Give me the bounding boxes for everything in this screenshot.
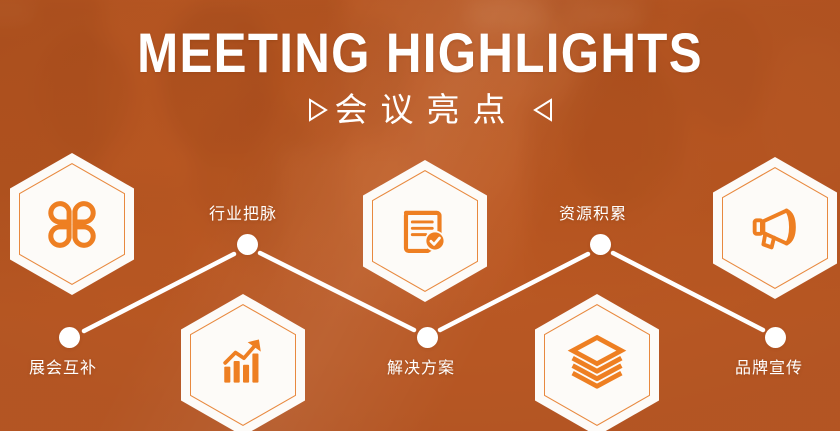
hexagon-node-2[interactable] — [181, 294, 305, 431]
banner-title-block: MEETING HIGHLIGHTS 会议亮点 — [0, 22, 840, 130]
hexagon-node-5[interactable] — [713, 157, 837, 299]
document-check-icon — [396, 202, 454, 260]
node-dot-4 — [590, 234, 611, 255]
node-label-1: 展会互补 — [29, 354, 97, 378]
node-label-2: 行业把脉 — [209, 200, 277, 224]
megaphone-icon — [744, 197, 806, 259]
node-label-3: 解决方案 — [387, 354, 455, 378]
node-dot-1 — [59, 327, 80, 348]
title-chinese: 会议亮点 — [322, 90, 519, 130]
hexagon-node-1[interactable] — [10, 153, 134, 295]
node-label-4: 资源积累 — [559, 200, 627, 224]
hexagon-node-4[interactable] — [535, 294, 659, 431]
layers-icon — [567, 330, 627, 390]
node-label-5: 品牌宣传 — [735, 354, 803, 378]
growth-chart-icon — [213, 331, 273, 391]
clover-icon — [41, 193, 103, 255]
meeting-highlights-banner: MEETING HIGHLIGHTS 会议亮点 — [0, 0, 840, 431]
node-dot-5 — [765, 327, 786, 348]
title-chinese-row: 会议亮点 — [0, 90, 840, 130]
node-dot-3 — [417, 327, 438, 348]
hexagon-node-3[interactable] — [363, 160, 487, 302]
node-dot-2 — [237, 234, 258, 255]
title-english: MEETING HIGHLIGHTS — [50, 22, 789, 84]
